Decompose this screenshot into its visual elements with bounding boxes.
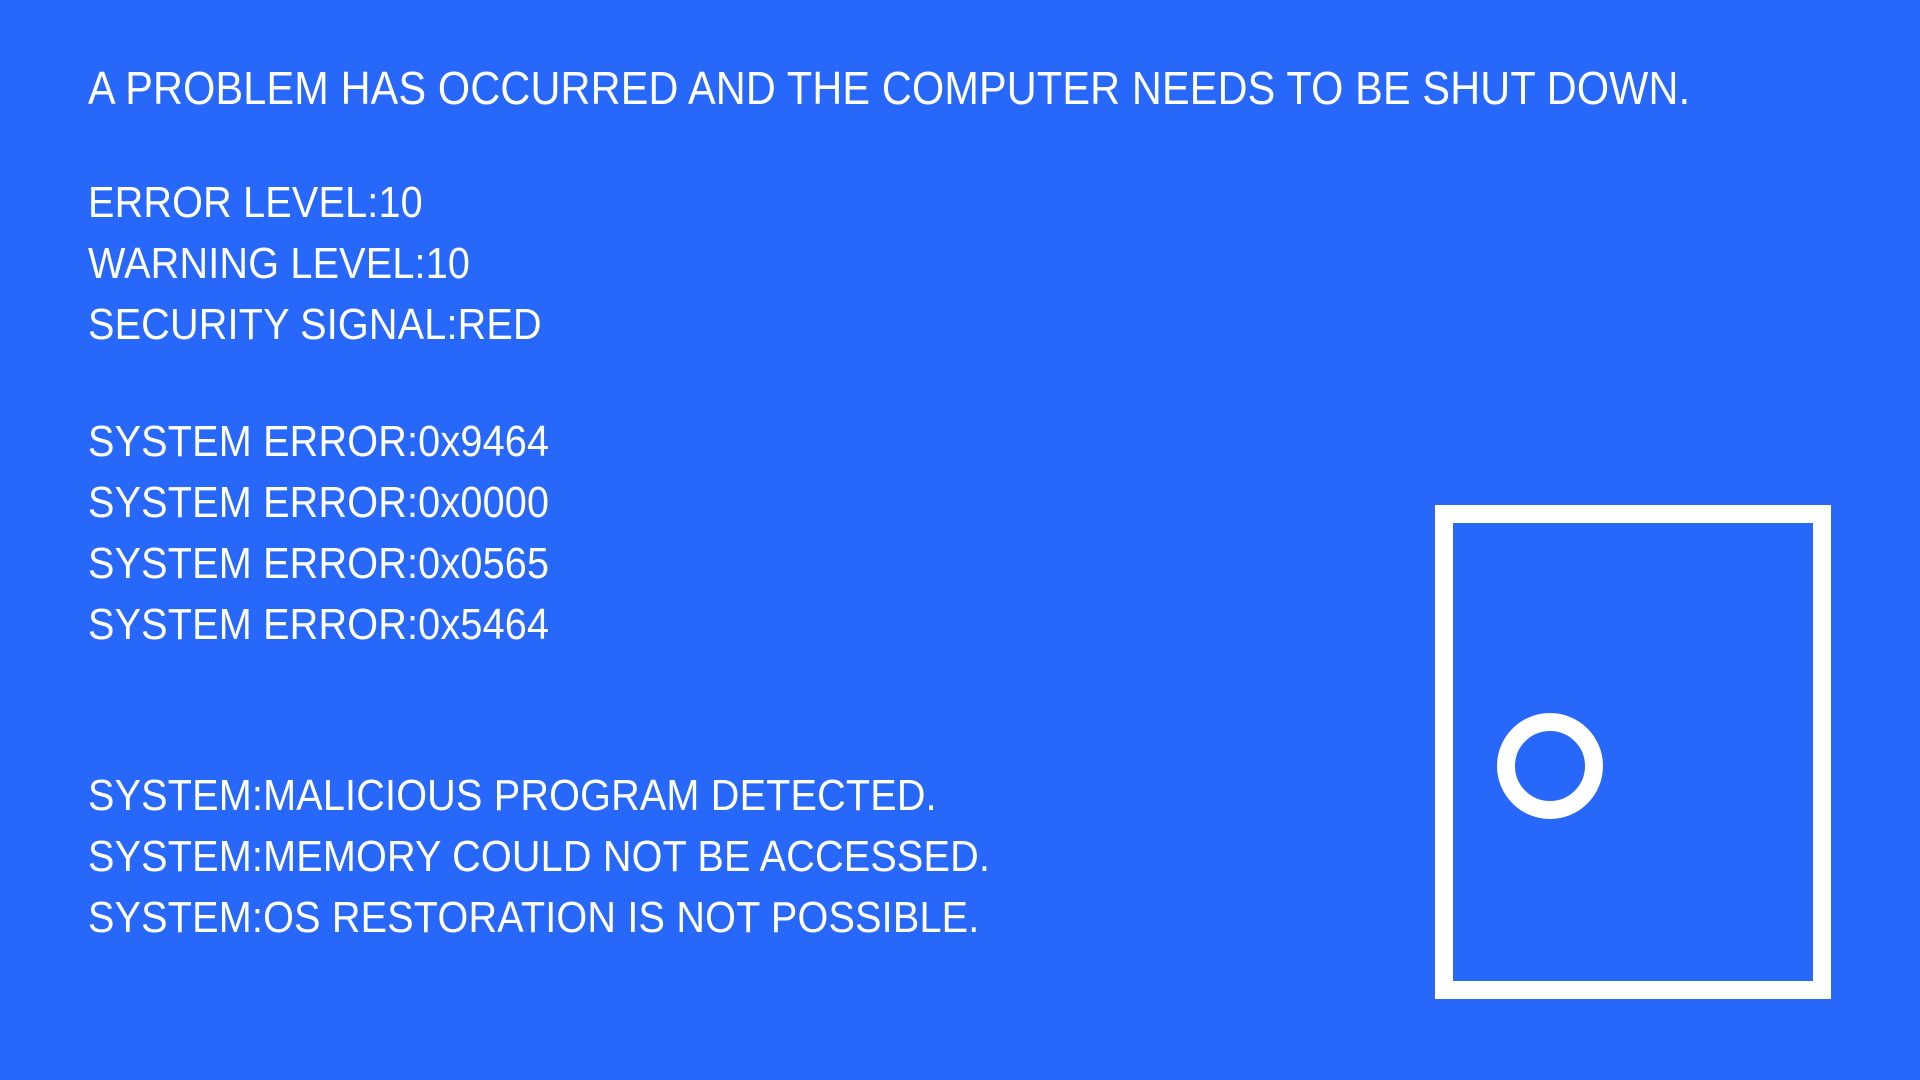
- door-frame-icon: [1435, 505, 1831, 999]
- message-column: A PROBLEM HAS OCCURRED AND THE COMPUTER …: [88, 58, 1368, 948]
- security-signal-line: SECURITY SIGNAL:RED: [88, 294, 1240, 355]
- system-error-line: SYSTEM ERROR:0x0000: [88, 472, 1240, 533]
- error-code-block: SYSTEM ERROR:0x9464 SYSTEM ERROR:0x0000 …: [88, 411, 1368, 655]
- system-error-line: SYSTEM ERROR:0x0565: [88, 533, 1240, 594]
- status-block: ERROR LEVEL:10 WARNING LEVEL:10 SECURITY…: [88, 172, 1368, 355]
- system-error-line: SYSTEM ERROR:0x5464: [88, 594, 1240, 655]
- warning-level-line: WARNING LEVEL:10: [88, 233, 1240, 294]
- system-error-line: SYSTEM ERROR:0x9464: [88, 411, 1240, 472]
- system-error-screen: A PROBLEM HAS OCCURRED AND THE COMPUTER …: [0, 0, 1920, 1080]
- system-message-line: SYSTEM:MALICIOUS PROGRAM DETECTED.: [88, 765, 1240, 826]
- system-message-line: SYSTEM:MEMORY COULD NOT BE ACCESSED.: [88, 826, 1240, 887]
- door-knob-icon: [1497, 713, 1603, 819]
- page-headline: A PROBLEM HAS OCCURRED AND THE COMPUTER …: [88, 58, 1240, 118]
- door-icon: [1435, 505, 1831, 999]
- system-message-line: SYSTEM:OS RESTORATION IS NOT POSSIBLE.: [88, 887, 1240, 948]
- system-message-block: SYSTEM:MALICIOUS PROGRAM DETECTED. SYSTE…: [88, 765, 1368, 948]
- error-level-line: ERROR LEVEL:10: [88, 172, 1240, 233]
